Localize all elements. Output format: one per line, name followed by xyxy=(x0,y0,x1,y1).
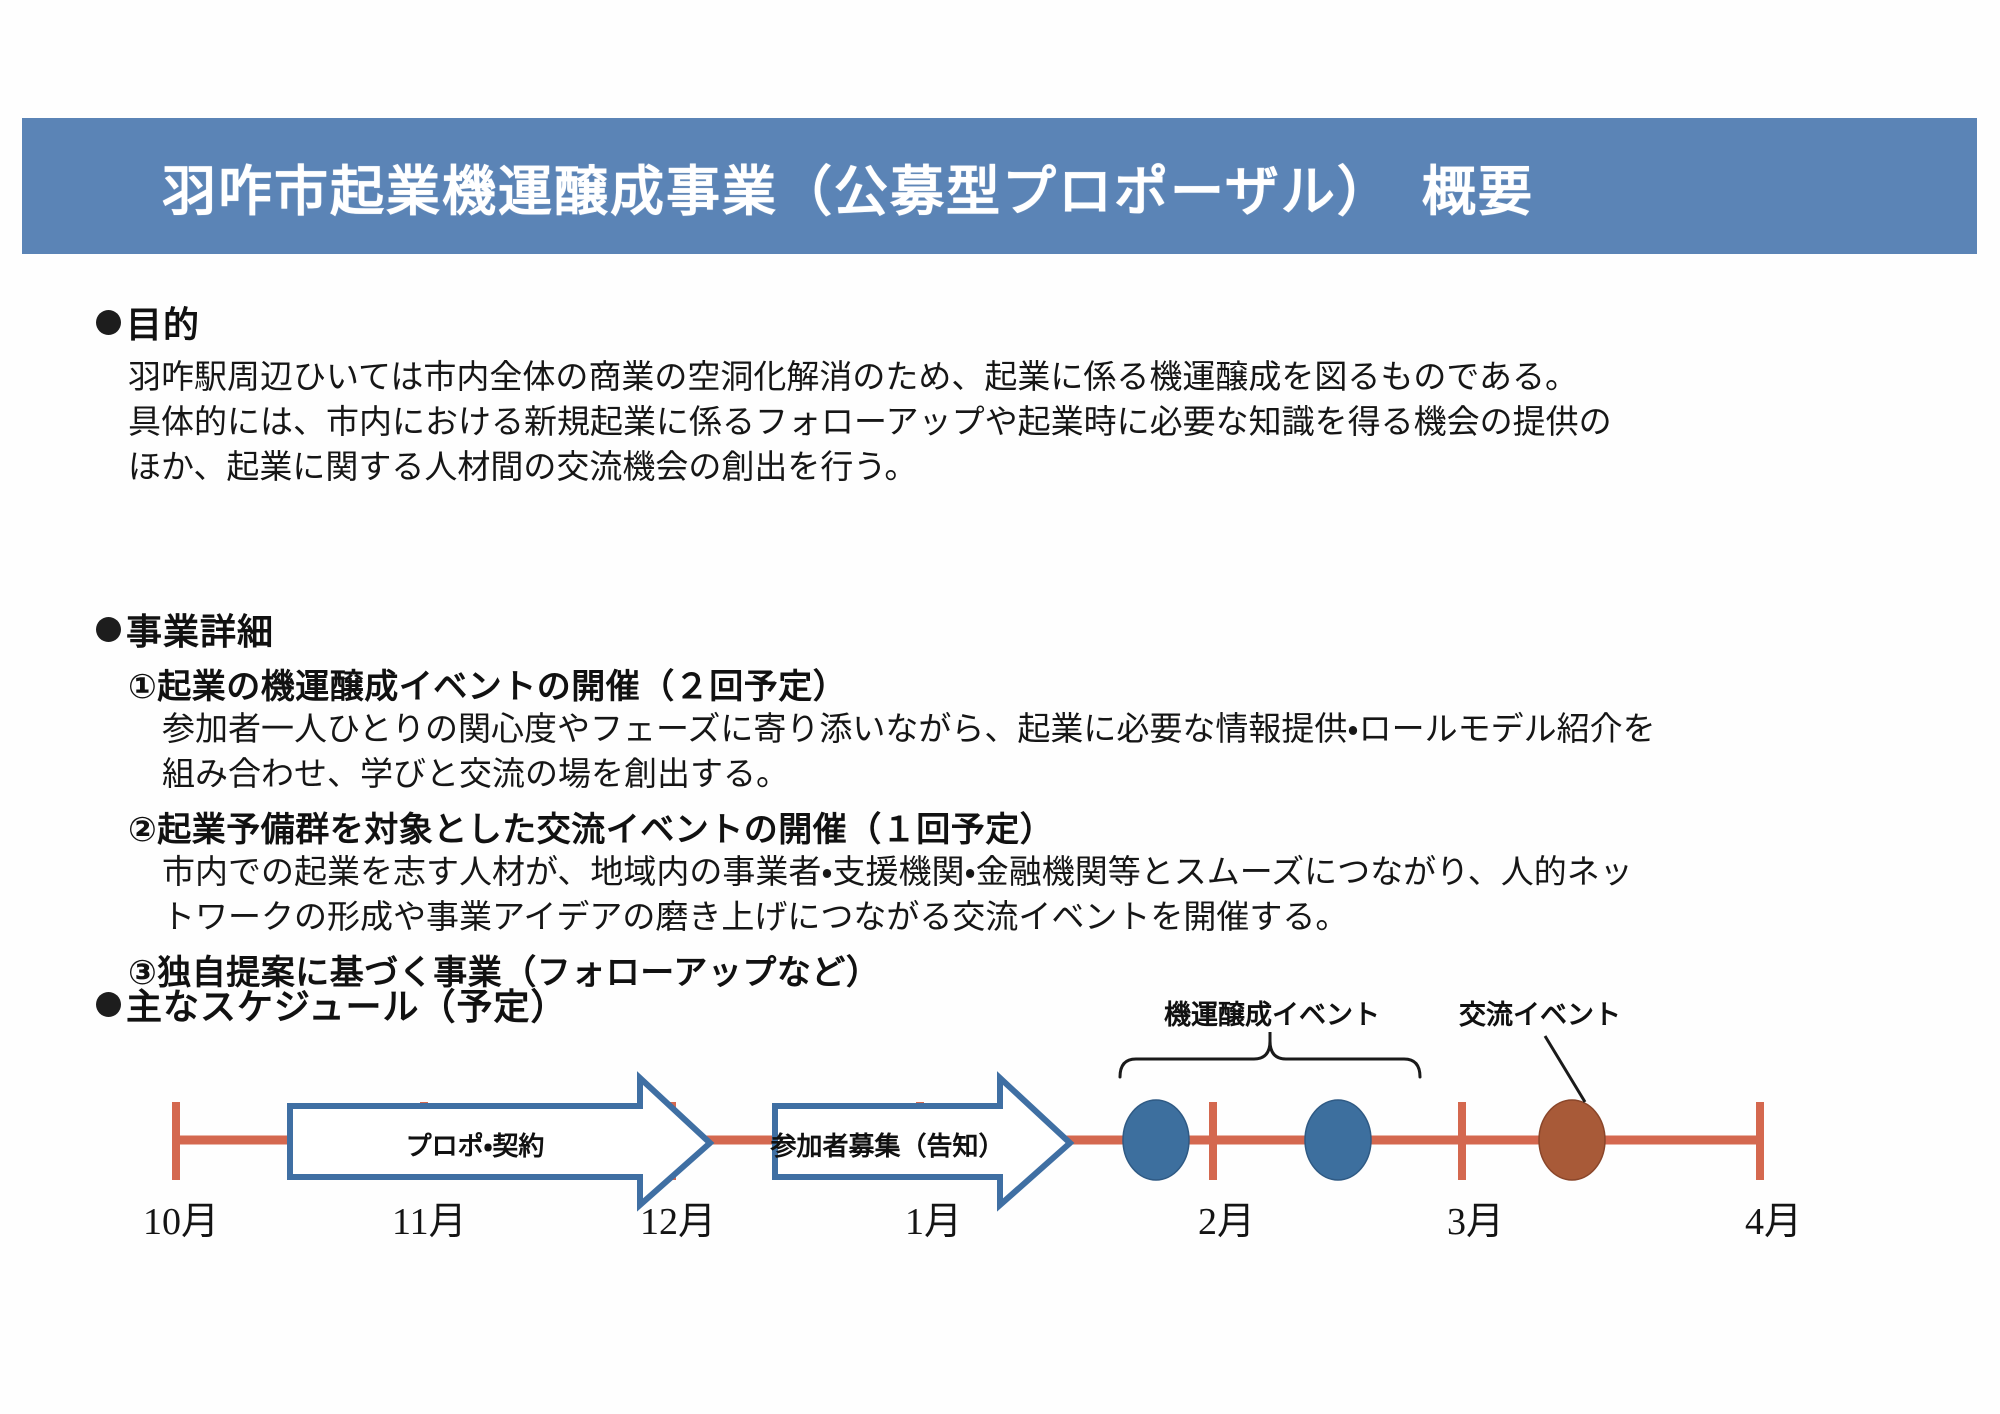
milestone-ellipse-event-2 xyxy=(1305,1100,1371,1180)
section-heading-label: 目的 xyxy=(126,296,200,348)
purpose-line-2: 具体的には、市内における新規起業に係るフォローアップや起業時に必要な知識を得る機… xyxy=(128,401,1896,446)
timeline-tick-label-5: 3月 xyxy=(1447,1190,1504,1245)
milestone-ellipse-exchange xyxy=(1539,1100,1605,1180)
timeline-tick-label-0: 10月 xyxy=(143,1190,219,1245)
detail-item-2-line-1: 市内での起業を志す人材が、地域内の事業者・支援機関・金融機関等とスムーズにつなが… xyxy=(162,851,1896,896)
timeline-tick-label-6: 4月 xyxy=(1745,1190,1802,1245)
page-title: 羽咋市起業機運醸成事業（公募型プロポーザル） 概要 xyxy=(162,147,1534,226)
purpose-line-3: ほか、起業に関する人材間の交流機会の創出を行う。 xyxy=(128,446,1896,491)
bullet-dot-icon xyxy=(96,617,121,642)
timeline-arrow-label-proposal: プロポ・契約 xyxy=(290,1126,660,1163)
purpose-body: 羽咋駅周辺ひいては市内全体の商業の空洞化解消のため、起業に係る機運醸成を図るもの… xyxy=(128,356,1896,491)
page-canvas: 羽咋市起業機運醸成事業（公募型プロポーザル） 概要 目的 羽咋駅周辺ひいては市内… xyxy=(0,0,2000,1414)
detail-item-2-line-2: トワークの形成や事業アイデアの磨き上げにつながる交流イベントを開催する。 xyxy=(162,896,1896,941)
purpose-line-1: 羽咋駅周辺ひいては市内全体の商業の空洞化解消のため、起業に係る機運醸成を図るもの… xyxy=(128,356,1896,401)
detail-item-1: ①起業の機運醸成イベントの開催（２回予定） 参加者一人ひとりの関心度やフェーズに… xyxy=(128,659,1896,798)
timeline-arrow-label-recruitment: 参加者募集（告知） xyxy=(770,1126,1005,1163)
detail-item-2-label: ②起業予備群を対象とした交流イベントの開催（１回予定） xyxy=(128,802,1896,851)
callout-leader-exchange xyxy=(1545,1036,1585,1102)
detail-item-1-body: 参加者一人ひとりの関心度やフェーズに寄り添いながら、起業に必要な情報提供・ロール… xyxy=(162,708,1896,798)
detail-item-1-label: ①起業の機運醸成イベントの開催（２回予定） xyxy=(128,659,1896,708)
section-details: 事業詳細 ①起業の機運醸成イベントの開催（２回予定） 参加者一人ひとりの関心度や… xyxy=(96,603,1896,994)
detail-item-1-line-2: 組み合わせ、学びと交流の場を創出する。 xyxy=(162,753,1896,798)
callout-label-event: 機運醸成イベント xyxy=(1122,993,1422,1032)
section-schedule: 主なスケジュール（予定） xyxy=(96,978,1296,1030)
section-heading-details: 事業詳細 xyxy=(96,603,1896,655)
section-heading-purpose: 目的 xyxy=(96,296,1896,348)
timeline-tick-label-1: 11月 xyxy=(392,1190,467,1245)
milestone-ellipse-event-1 xyxy=(1123,1100,1189,1180)
detail-item-1-line-1: 参加者一人ひとりの関心度やフェーズに寄り添いながら、起業に必要な情報提供・ロール… xyxy=(162,708,1896,753)
timeline-tick-label-2: 12月 xyxy=(640,1190,716,1245)
bullet-dot-icon xyxy=(96,992,121,1017)
section-purpose: 目的 羽咋駅周辺ひいては市内全体の商業の空洞化解消のため、起業に係る機運醸成を図… xyxy=(96,296,1896,491)
detail-item-2-body: 市内での起業を志す人材が、地域内の事業者・支援機関・金融機関等とスムーズにつなが… xyxy=(162,851,1896,941)
title-banner: 羽咋市起業機運醸成事業（公募型プロポーザル） 概要 xyxy=(22,118,1977,254)
bullet-dot-icon xyxy=(96,310,121,335)
callout-brace-event xyxy=(1120,1041,1420,1077)
section-heading-label: 事業詳細 xyxy=(126,603,274,655)
section-heading-label: 主なスケジュール（予定） xyxy=(126,978,567,1030)
timeline-tick-label-3: 1月 xyxy=(905,1190,962,1245)
timeline-tick-label-4: 2月 xyxy=(1198,1190,1255,1245)
detail-item-2: ②起業予備群を対象とした交流イベントの開催（１回予定） 市内での起業を志す人材が… xyxy=(128,802,1896,941)
callout-label-exchange: 交流イベント xyxy=(1420,993,1660,1032)
section-heading-schedule: 主なスケジュール（予定） xyxy=(96,978,1296,1030)
